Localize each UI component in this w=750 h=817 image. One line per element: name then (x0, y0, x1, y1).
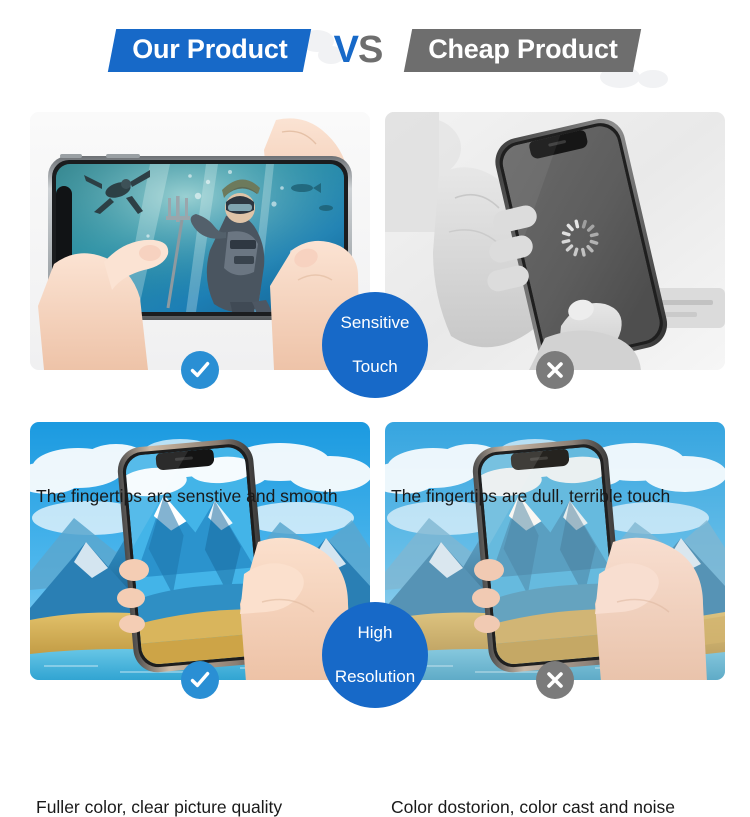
our-product-label: Our Product (132, 36, 287, 63)
caption-bottom-right: Color dostorion, color cast and noise (391, 799, 675, 817)
caption-top-left: The fingertips are senstive and smooth (36, 488, 338, 506)
status-badge-fail (536, 351, 574, 389)
photo-panel-loading (385, 112, 725, 370)
caption-top-right: The fingertips are dull, terrible touch (391, 488, 670, 506)
game-phone-illustration (30, 112, 370, 370)
vs-letter-v: V (334, 29, 358, 71)
loading-phone-illustration (385, 112, 725, 370)
comparison-cell-bottom-right (385, 422, 725, 680)
cross-icon (543, 668, 567, 692)
feature-bubble-text: HighResolution (327, 622, 423, 688)
bubble-line-2: Resolution (331, 666, 419, 688)
cheap-product-ribbon: Cheap Product (404, 29, 642, 72)
cross-icon (543, 358, 567, 382)
feature-bubble-sensitive-touch: SensitiveTouch (322, 292, 428, 398)
vs-label: VS (334, 31, 383, 69)
status-badge-pass (181, 351, 219, 389)
comparison-header: Our Product VS Cheap Product (0, 0, 750, 100)
cheap-product-label: Cheap Product (428, 36, 617, 63)
bubble-line-1: Sensitive (337, 312, 414, 334)
mountain-washed-illustration (385, 422, 725, 680)
comparison-grid: SensitiveTouch HighResolution The finger… (0, 100, 750, 750)
photo-panel-game (30, 112, 370, 370)
vs-letter-s: S (358, 29, 382, 71)
photo-panel-mountain-washed (385, 422, 725, 680)
bubble-line-1: High (331, 622, 419, 644)
comparison-cell-top-left (30, 112, 370, 370)
feature-bubble-text: SensitiveTouch (333, 312, 418, 378)
feature-bubble-high-resolution: HighResolution (322, 602, 428, 708)
our-product-ribbon: Our Product (108, 29, 312, 72)
status-badge-pass (181, 661, 219, 699)
check-icon (188, 668, 212, 692)
comparison-cell-top-right (385, 112, 725, 370)
photo-panel-mountain-vivid (30, 422, 370, 680)
check-icon (188, 358, 212, 382)
bubble-line-2: Touch (337, 356, 414, 378)
comparison-cell-bottom-left (30, 422, 370, 680)
mountain-vivid-illustration (30, 422, 370, 680)
caption-bottom-left: Fuller color, clear picture quality (36, 799, 282, 817)
status-badge-fail (536, 661, 574, 699)
